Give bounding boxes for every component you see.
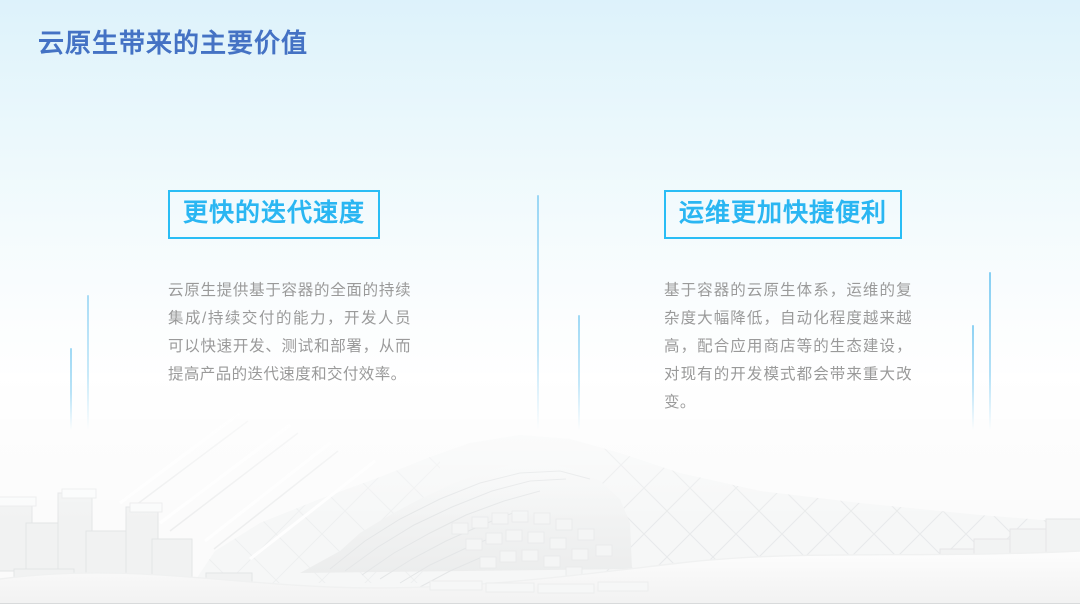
value-body-2: 基于容器的云原生体系，运维的复杂度大幅降低，自动化程度越来越高，配合应用商店等的…: [664, 277, 912, 417]
left-block-cluster: [0, 493, 252, 603]
deco-line-right-short: [972, 325, 974, 430]
slide-canvas: 云原生带来的主要价值 更快的迭代速度 云原生提供基于容器的全面的持续集成/持续交…: [0, 0, 1080, 604]
deco-line-left-inner: [87, 295, 89, 430]
background-3d-landscape: [0, 373, 1080, 603]
voxel-ridge: [300, 463, 632, 587]
lattice-wall: [0, 373, 1080, 603]
deco-line-mid-tall: [537, 195, 539, 430]
value-heading-1: 更快的迭代速度: [168, 190, 380, 239]
ground-edge: [0, 551, 1080, 588]
value-body-1: 云原生提供基于容器的全面的持续集成/持续交付的能力，开发人员可以快速开发、测试和…: [168, 277, 411, 389]
foreground-ground: [0, 551, 1080, 603]
deco-line-right-tall: [989, 272, 991, 430]
foreground-plates: [430, 581, 648, 593]
left-block-tops: [0, 489, 162, 512]
deco-line-left-outer: [70, 348, 72, 430]
deco-line-mid-short: [578, 315, 580, 430]
value-column-1: 更快的迭代速度 云原生提供基于容器的全面的持续集成/持续交付的能力，开发人员可以…: [168, 190, 412, 389]
page-title: 云原生带来的主要价值: [38, 23, 308, 60]
value-heading-2: 运维更加快捷便利: [664, 190, 902, 239]
right-block-cluster: [884, 519, 1080, 601]
value-column-2: 运维更加快捷便利 基于容器的云原生体系，运维的复杂度大幅降低，自动化程度越来越高…: [664, 190, 914, 417]
landscape-illustration: [0, 373, 1080, 603]
light-streaks-shadow: [128, 421, 338, 549]
light-streaks: [120, 413, 375, 559]
